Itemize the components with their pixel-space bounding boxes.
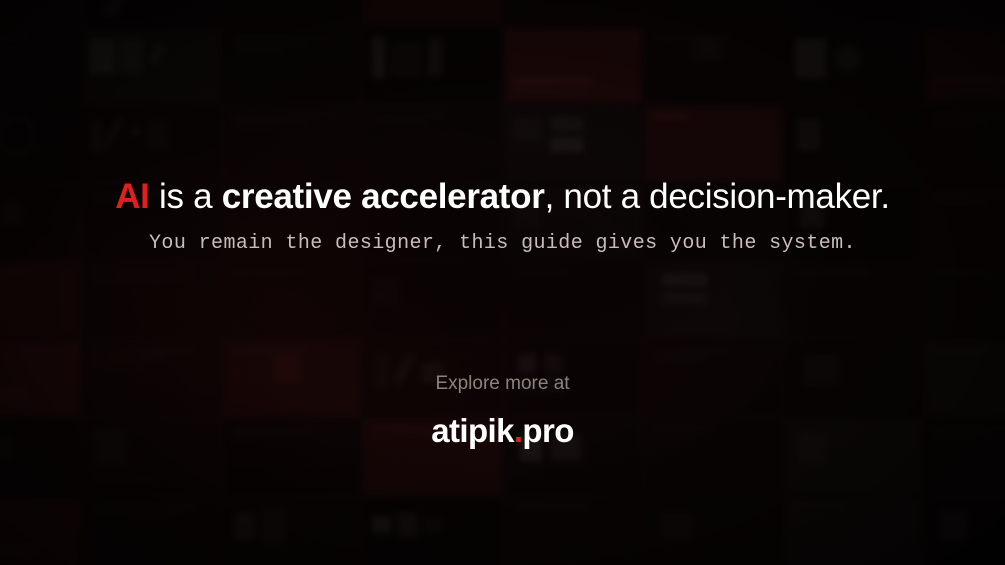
page-title: AI is a creative accelerator, not a deci… xyxy=(0,176,1005,218)
brand-logotype[interactable]: atipik.pro xyxy=(0,411,1005,451)
headline-bold-phrase: creative accelerator xyxy=(222,177,545,216)
headline-light-1: is a xyxy=(150,177,222,216)
subtitle-text: You remain the designer, this guide give… xyxy=(0,231,1005,257)
brand-tld: pro xyxy=(522,412,573,449)
presentation-slide: AI is a creative accelerator, not a deci… xyxy=(0,0,1005,565)
explore-more-label: Explore more at xyxy=(0,372,1005,396)
brand-name: atipik xyxy=(431,412,514,449)
headline-light-2: , not a decision-maker. xyxy=(545,177,890,216)
slide-content: AI is a creative accelerator, not a deci… xyxy=(0,0,1005,565)
headline-accent-ai: AI xyxy=(115,177,149,216)
